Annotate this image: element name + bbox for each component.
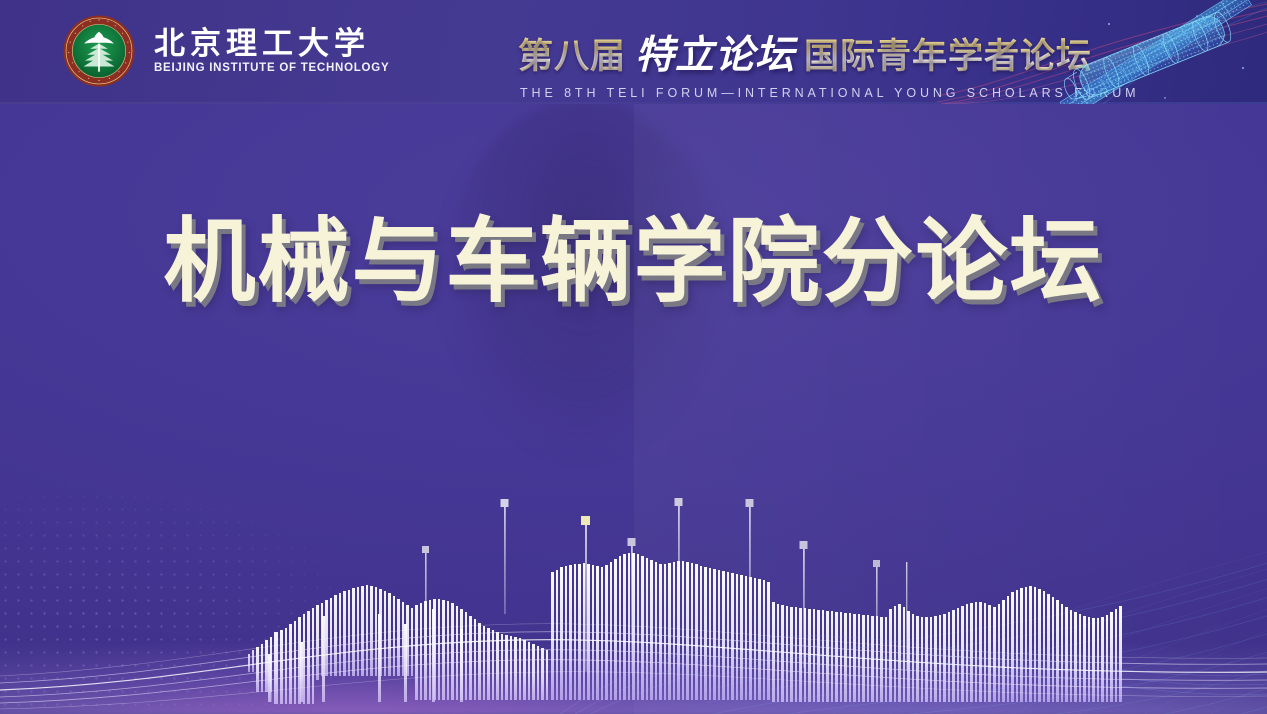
page-title: 机械与车辆学院分论坛 — [0, 216, 1267, 308]
university-logo: 北京理工大学 BEIJING INSTITUTE OF TECHNOLOGY — [62, 14, 389, 88]
forum-edition: 第八届 — [518, 28, 626, 79]
floor-sheen — [0, 642, 1267, 714]
header-bottom-edge — [0, 102, 1267, 104]
header-band: 北京理工大学 BEIJING INSTITUTE OF TECHNOLOGY 第… — [0, 0, 1267, 104]
forum-title-line: 第八届 特立论坛 国际青年学者论坛 — [518, 24, 1092, 80]
forum-name: 特立论坛 — [635, 24, 795, 80]
presentation-slide: 北京理工大学 BEIJING INSTITUTE OF TECHNOLOGY 第… — [0, 0, 1267, 714]
university-name-en: BEIJING INSTITUTE OF TECHNOLOGY — [154, 62, 389, 74]
space-station-satellite-icon — [1047, 0, 1265, 104]
university-name-cn: 北京理工大学 — [154, 28, 389, 61]
bit-university-seal-icon — [62, 14, 136, 88]
